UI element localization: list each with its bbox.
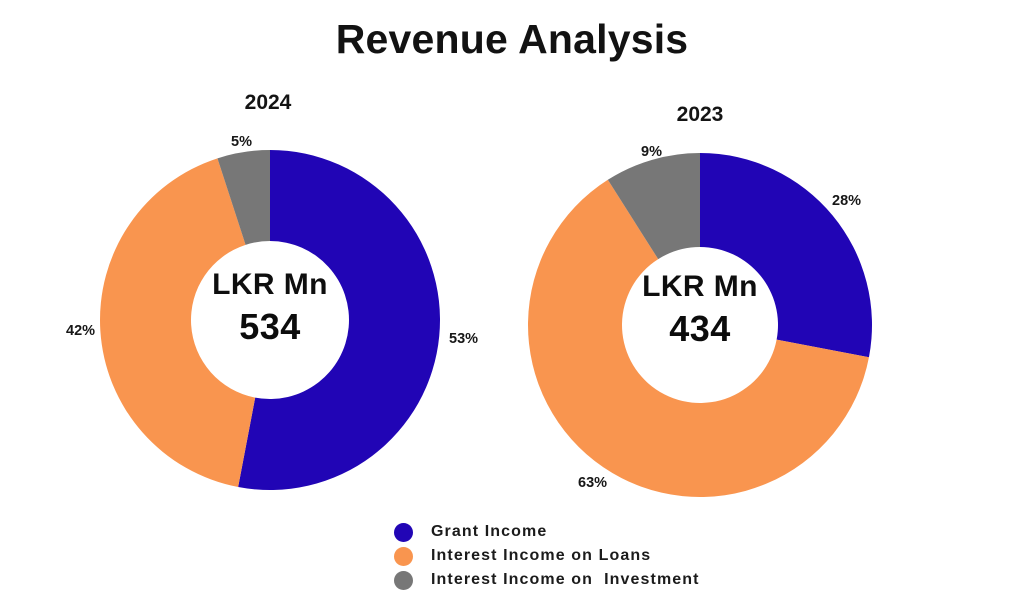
slice-label-grant-2023: 28% xyxy=(832,193,861,209)
chart-canvas: Revenue Analysis 2024 LKR Mn 534 5% 42% … xyxy=(0,0,1024,615)
legend-color-swatch-icon xyxy=(394,523,413,542)
donut-chart-2023: 2023 LKR Mn 434 9% 28% 63% xyxy=(510,100,910,510)
legend-item-label: Interest Income on Investment xyxy=(431,571,700,589)
legend: Grant Income Interest Income on Loans In… xyxy=(394,520,814,592)
slice-label-loans-2023: 63% xyxy=(578,475,607,491)
donut-slice[interactable] xyxy=(100,158,255,487)
donut-slice[interactable] xyxy=(700,153,872,357)
donut-svg-2024 xyxy=(78,88,478,498)
slice-label-investment-2024: 5% xyxy=(231,134,252,150)
legend-item-interest-income-on-loans[interactable]: Interest Income on Loans xyxy=(394,544,814,568)
slice-label-grant-2024: 53% xyxy=(449,331,478,347)
legend-item-label: Grant Income xyxy=(431,523,547,541)
slice-label-loans-2024: 42% xyxy=(66,323,95,339)
legend-color-swatch-icon xyxy=(394,547,413,566)
page-title: Revenue Analysis xyxy=(0,16,1024,63)
donut-svg-2023 xyxy=(510,100,910,510)
legend-item-grant-income[interactable]: Grant Income xyxy=(394,520,814,544)
slice-label-investment-2023: 9% xyxy=(641,144,662,160)
donut-chart-2024: 2024 LKR Mn 534 5% 42% 53% xyxy=(78,88,478,498)
legend-item-interest-income-on-investment[interactable]: Interest Income on Investment xyxy=(394,568,814,592)
legend-item-label: Interest Income on Loans xyxy=(431,547,651,565)
legend-color-swatch-icon xyxy=(394,571,413,590)
